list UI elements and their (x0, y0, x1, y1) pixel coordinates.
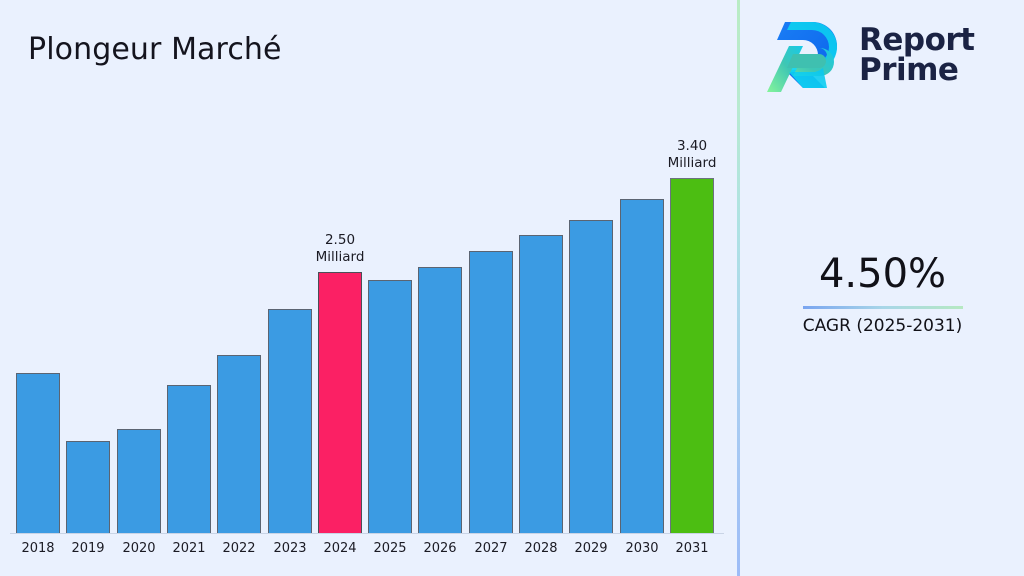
bar-2018 (16, 373, 60, 533)
bar-2019 (66, 441, 110, 533)
bar-value-number-2024: 2.50 (290, 232, 390, 249)
cagr-caption: CAGR (2025-2031) (741, 315, 1024, 337)
bar-2029 (569, 220, 613, 533)
bar-2024 (318, 272, 362, 533)
chart-screenshot-root: Plongeur Marché 201820192020202120222023… (0, 0, 1024, 576)
panel-divider (737, 0, 740, 576)
bar-value-number-2031: 3.40 (642, 138, 742, 155)
x-axis-baseline (10, 533, 724, 534)
bar-2027 (469, 251, 513, 533)
bar-2031 (670, 178, 714, 533)
bar-2025 (368, 280, 412, 533)
brand-wordmark-line1: Report (859, 25, 975, 55)
bar-value-unit-2024: Milliard (290, 249, 390, 266)
cagr-block: 4.50% CAGR (2025-2031) (741, 250, 1024, 337)
x-axis-tick-2031: 2031 (662, 541, 722, 556)
bar-2021 (167, 385, 211, 533)
bar-2023 (268, 309, 312, 533)
brand-wordmark-line2: Prime (859, 55, 975, 85)
side-panel: Report Prime 4.50% CAGR (2025-2031) (741, 0, 1024, 576)
bar-value-unit-2031: Milliard (642, 155, 742, 172)
brand-wordmark: Report Prime (859, 25, 975, 85)
bar-value-label-2031: 3.40Milliard (642, 138, 742, 172)
brand-logo: Report Prime (763, 10, 1011, 100)
bar-chart-plot-area: 20182019202020212022202320242.50Milliard… (0, 0, 738, 576)
bar-2026 (418, 267, 462, 533)
bar-2028 (519, 235, 563, 533)
bar-value-label-2024: 2.50Milliard (290, 232, 390, 266)
report-prime-logo-icon (763, 14, 849, 96)
cagr-divider-rule (803, 306, 963, 309)
cagr-value: 4.50% (741, 250, 1024, 298)
bar-2022 (217, 355, 261, 533)
chart-panel: Plongeur Marché 201820192020202120222023… (0, 0, 738, 576)
bar-2020 (117, 429, 161, 533)
bar-2030 (620, 199, 664, 533)
